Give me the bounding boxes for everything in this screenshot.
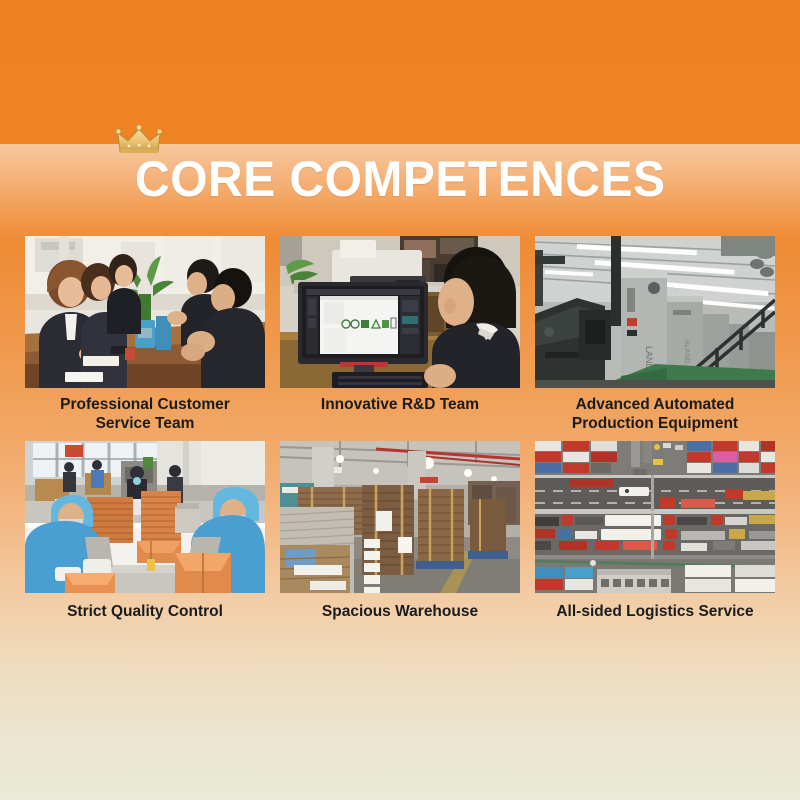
photo-strict-quality-control	[25, 441, 265, 593]
photo-advanced-automated-production-equipment: LAND 800 ALAND	[535, 236, 775, 388]
competence-card-spacious-warehouse[interactable]: Spacious Warehouse	[280, 441, 520, 621]
caption-advanced-automated-production-equipment: Advanced Automated Production Equipment	[535, 395, 775, 433]
caption-all-sided-logistics-service: All-sided Logistics Service	[535, 602, 775, 621]
title-wrap: CORE COMPETENCES	[124, 150, 677, 208]
title-block: CORE COMPETENCES	[0, 150, 800, 208]
competence-card-strict-quality-control[interactable]: Strict Quality Control	[25, 441, 265, 621]
competence-card-all-sided-logistics-service[interactable]: All-sided Logistics Service	[535, 441, 775, 621]
page-title: CORE COMPETENCES	[135, 150, 665, 208]
photo-professional-customer-service-team	[25, 236, 265, 388]
svg-text:ALAND: ALAND	[683, 340, 690, 363]
photo-innovative-rd-team	[280, 236, 520, 388]
photo-spacious-warehouse	[280, 441, 520, 593]
caption-innovative-rd-team: Innovative R&D Team	[280, 395, 520, 414]
core-competences-banner: CORE COMPETENCES	[0, 0, 800, 800]
competence-card-professional-customer-service-team[interactable]: Professional Customer Service Team	[25, 236, 265, 433]
competences-grid: Professional Customer Service Team	[25, 236, 775, 621]
competence-card-innovative-rd-team[interactable]: Innovative R&D Team	[280, 236, 520, 433]
caption-strict-quality-control: Strict Quality Control	[25, 602, 265, 621]
photo-all-sided-logistics-service	[535, 441, 775, 593]
competence-card-advanced-automated-production-equipment[interactable]: LAND 800 ALAND	[535, 236, 775, 433]
caption-professional-customer-service-team: Professional Customer Service Team	[25, 395, 265, 433]
caption-spacious-warehouse: Spacious Warehouse	[280, 602, 520, 621]
